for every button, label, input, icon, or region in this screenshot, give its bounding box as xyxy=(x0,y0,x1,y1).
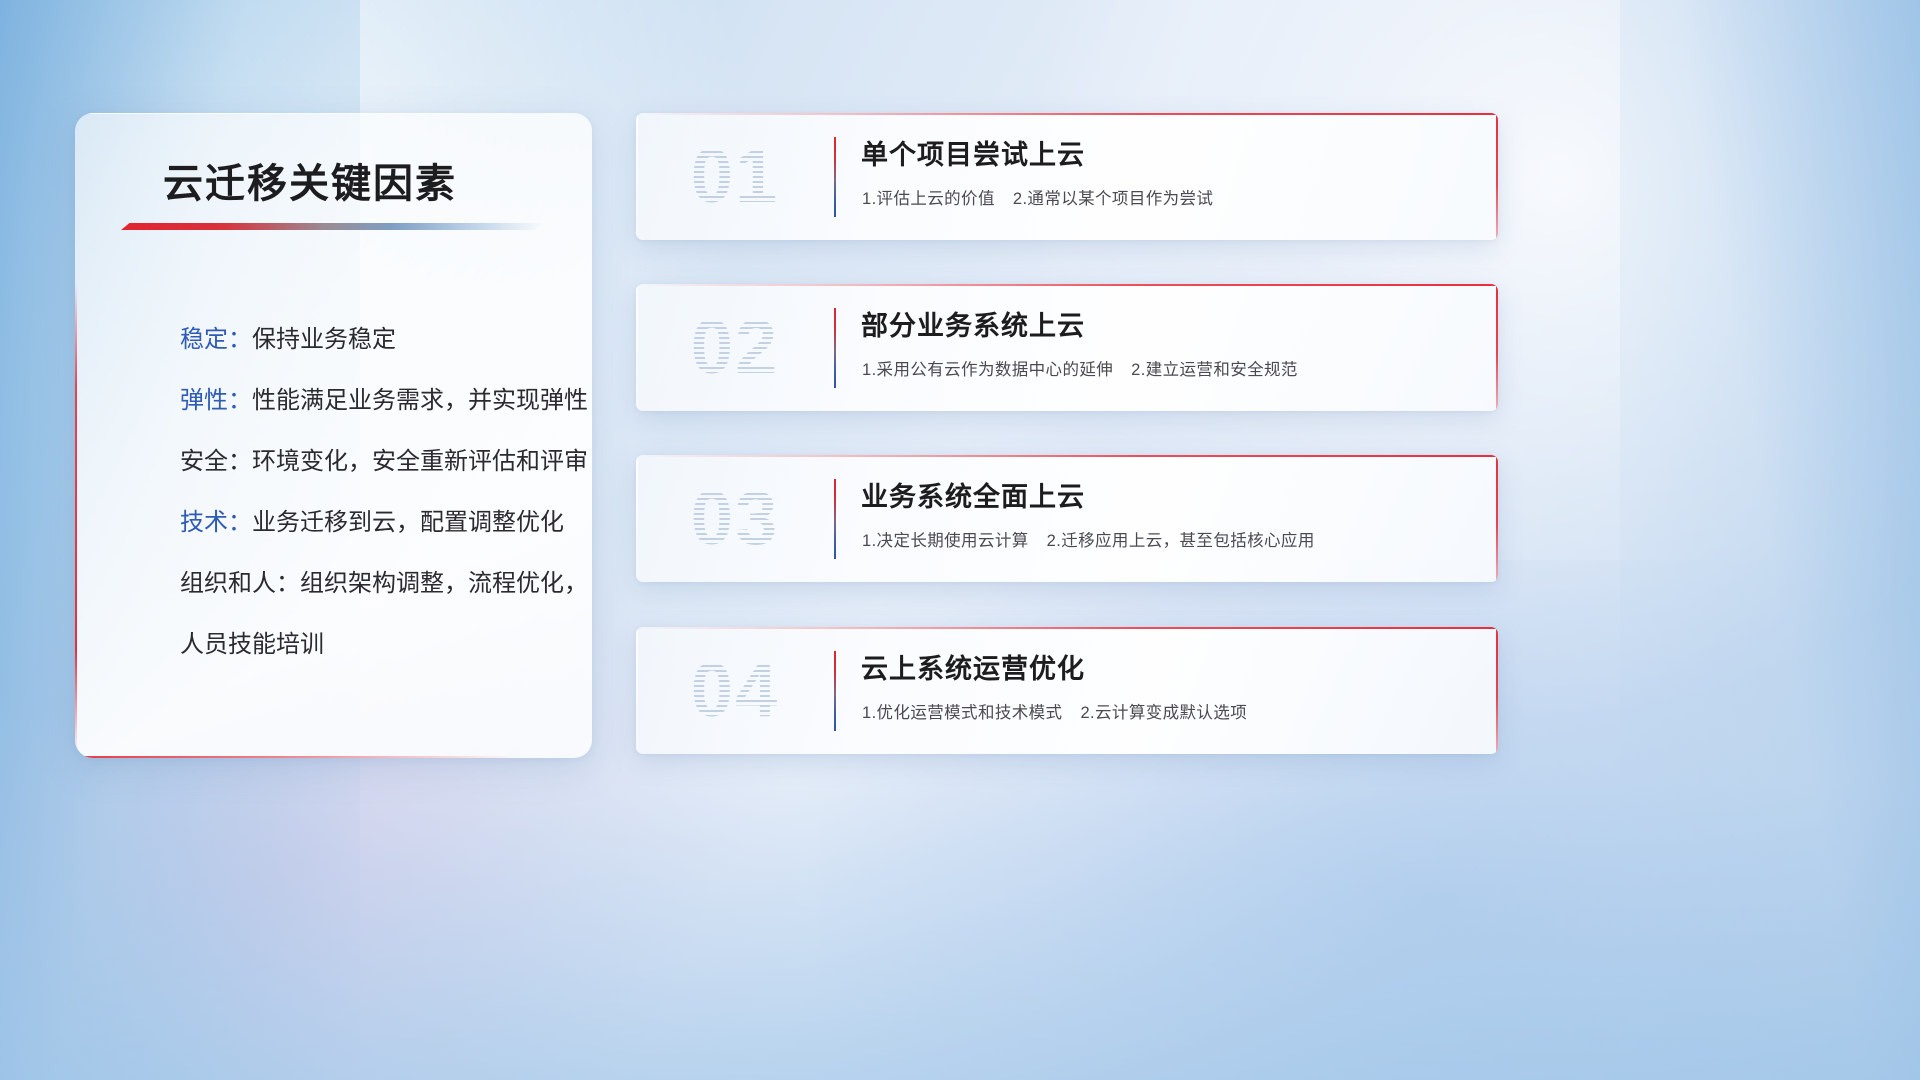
list-item-value: 业务迁移到云，配置调整优化 xyxy=(252,509,564,536)
list-item-value: 人员技能培训 xyxy=(180,631,324,658)
card-left-highlight xyxy=(636,627,638,754)
step-card-01[interactable]: 01 单个项目尝试上云 1.评估上云的价值2.通常以某个项目作为尝试 xyxy=(636,113,1498,240)
step-point-2: 2.通常以某个项目作为尝试 xyxy=(1013,190,1213,208)
step-title: 业务系统全面上云 xyxy=(861,475,1085,514)
card-left-highlight xyxy=(636,284,638,411)
panel-bottom-red-accent xyxy=(75,756,592,758)
list-item-value: 保持业务稳定 xyxy=(252,326,396,353)
list-item: 安全：环境变化，安全重新评估和评审 xyxy=(180,431,580,492)
step-point-1: 1.决定长期使用云计算 xyxy=(862,532,1029,550)
step-number-watermark: 02 xyxy=(660,302,810,394)
card-top-red-accent xyxy=(636,627,1498,629)
step-point-1: 1.优化运营模式和技术模式 xyxy=(862,704,1062,722)
list-item: 技术：业务迁移到云，配置调整优化 xyxy=(180,492,580,553)
list-item: 组织和人：组织架构调整，流程优化， xyxy=(180,553,580,614)
step-number-watermark: 04 xyxy=(660,645,810,737)
list-item-value: 性能满足业务需求，并实现弹性 xyxy=(252,387,588,414)
list-item: 人员技能培训 xyxy=(180,614,580,675)
list-item-label: 弹性： xyxy=(180,387,252,414)
step-point-2: 2.云计算变成默认选项 xyxy=(1080,704,1247,722)
list-item-label: 技术： xyxy=(180,509,252,536)
card-left-highlight xyxy=(636,113,638,240)
title-underline-gradient xyxy=(121,223,543,230)
step-subtitle: 1.评估上云的价值2.通常以某个项目作为尝试 xyxy=(862,185,1213,209)
list-item-value: 环境变化，安全重新评估和评审 xyxy=(252,448,588,475)
card-top-red-accent xyxy=(636,284,1498,286)
card-top-red-accent xyxy=(636,455,1498,457)
step-point-2: 2.迁移应用上云，甚至包括核心应用 xyxy=(1047,532,1315,550)
step-point-2: 2.建立运营和安全规范 xyxy=(1131,361,1298,379)
step-subtitle: 1.决定长期使用云计算2.迁移应用上云，甚至包括核心应用 xyxy=(862,527,1315,551)
list-item: 弹性：性能满足业务需求，并实现弹性 xyxy=(180,370,580,431)
list-item-value: 组织架构调整，流程优化， xyxy=(300,570,588,597)
step-subtitle: 1.采用公有云作为数据中心的延伸2.建立运营和安全规范 xyxy=(862,356,1298,380)
step-title: 部分业务系统上云 xyxy=(861,304,1085,343)
step-card-04[interactable]: 04 云上系统运营优化 1.优化运营模式和技术模式2.云计算变成默认选项 xyxy=(636,627,1498,754)
page-title: 云迁移关键因素 xyxy=(163,151,563,209)
list-item-label: 组织和人： xyxy=(180,570,300,597)
step-point-1: 1.评估上云的价值 xyxy=(862,190,995,208)
card-right-red-accent xyxy=(1496,284,1498,411)
card-right-red-accent xyxy=(1496,455,1498,582)
step-divider-line xyxy=(834,308,836,388)
card-right-red-accent xyxy=(1496,113,1498,240)
step-point-1: 1.采用公有云作为数据中心的延伸 xyxy=(862,361,1113,379)
step-divider-line xyxy=(834,137,836,217)
list-item-label: 安全： xyxy=(180,448,252,475)
step-card-03[interactable]: 03 业务系统全面上云 1.决定长期使用云计算2.迁移应用上云，甚至包括核心应用 xyxy=(636,455,1498,582)
step-title: 单个项目尝试上云 xyxy=(861,133,1085,172)
panel-left-red-accent xyxy=(75,283,77,753)
card-left-highlight xyxy=(636,455,638,582)
step-number-watermark: 01 xyxy=(660,131,810,223)
key-factors-panel: 云迁移关键因素 稳定：保持业务稳定 弹性：性能满足业务需求，并实现弹性 安全：环… xyxy=(75,113,592,758)
step-title: 云上系统运营优化 xyxy=(861,647,1085,686)
list-item: 稳定：保持业务稳定 xyxy=(180,309,580,370)
step-divider-line xyxy=(834,479,836,559)
background-bottom-wash xyxy=(0,780,1920,1080)
key-factors-list: 稳定：保持业务稳定 弹性：性能满足业务需求，并实现弹性 安全：环境变化，安全重新… xyxy=(180,309,580,675)
step-subtitle: 1.优化运营模式和技术模式2.云计算变成默认选项 xyxy=(862,699,1247,723)
list-item-label: 稳定： xyxy=(180,326,252,353)
card-top-red-accent xyxy=(636,113,1498,115)
panel-top-highlight xyxy=(75,113,592,114)
step-number-watermark: 03 xyxy=(660,473,810,565)
step-divider-line xyxy=(834,651,836,731)
step-card-02[interactable]: 02 部分业务系统上云 1.采用公有云作为数据中心的延伸2.建立运营和安全规范 xyxy=(636,284,1498,411)
card-right-red-accent xyxy=(1496,627,1498,754)
